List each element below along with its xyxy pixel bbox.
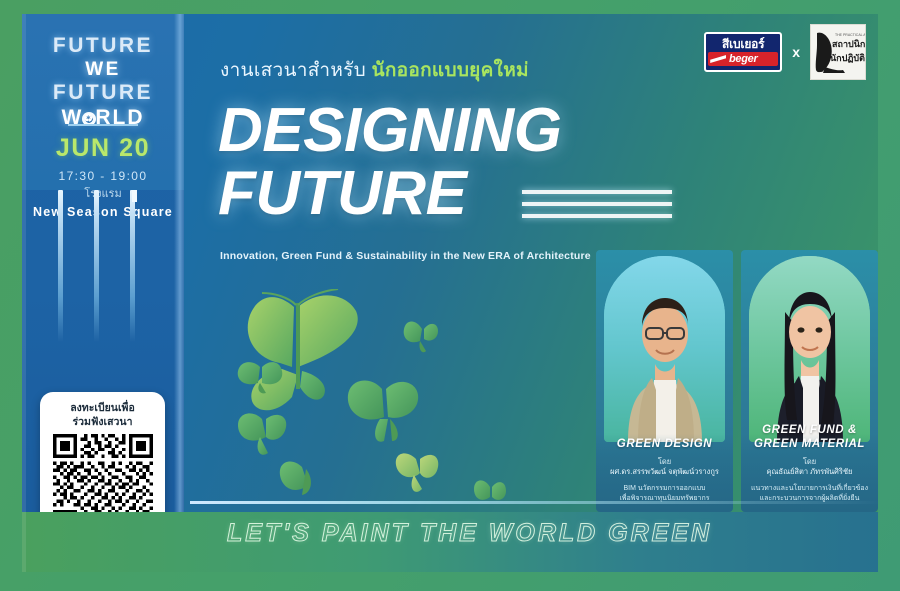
butterfly-mid-right (348, 380, 418, 441)
beger-wordmark: beger (729, 53, 757, 65)
beger-logo: สีเบเยอร์ beger (704, 32, 782, 72)
speaker-2-by: โดย (747, 457, 872, 467)
butterfly-bottom-3 (474, 480, 506, 499)
speaker-2-caption: GREEN FUND & GREEN MATERIAL โดย คุณธัณย์… (741, 423, 878, 512)
decor-bar-1 (58, 190, 63, 342)
speaker-2-desc-1: แนวทางและนโยบายการเงินที่เกี่ยวข้อง (747, 484, 872, 494)
butterfly-decoration (222, 289, 542, 524)
page-title: DESIGNING FUTURE (218, 102, 561, 224)
butterflies-art (222, 289, 542, 524)
left-trim (22, 14, 26, 572)
left-info-panel: FUTURE WE FUTURE WRLD JUN 20 17:30 - 19:… (22, 14, 184, 572)
speaker-2-topic-line-1: GREEN FUND & (747, 423, 872, 437)
svg-text:สถาปนิก: สถาปนิก (832, 39, 865, 49)
brand-line-3: FUTURE (22, 81, 184, 106)
title-line-2: FUTURE (218, 165, 561, 224)
divider (68, 124, 138, 126)
partner-logos: สีเบเยอร์ beger x สถาปนิก นักปฏิบัติ (704, 24, 866, 80)
kicker-plain: งานเสวนาสำหรับ (220, 60, 372, 81)
brand-line-1: FUTURE (22, 34, 184, 59)
kicker-text: งานเสวนาสำหรับ นักออกแบบยุคใหม่ (220, 55, 529, 85)
speaker-1-by: โดย (602, 457, 727, 467)
speaker-card-green-design[interactable]: GREEN DESIGN โดย ผศ.ดร.สรรพวัฒน์ จตุพัฒน… (596, 250, 733, 512)
bottom-separator-line (190, 501, 878, 504)
brand-logo: FUTURE WE FUTURE WRLD (22, 34, 184, 131)
poster: FUTURE WE FUTURE WRLD JUN 20 17:30 - 19:… (0, 0, 900, 591)
title-line-1: DESIGNING (218, 96, 561, 165)
speaker-1-topic: GREEN DESIGN (602, 437, 727, 451)
speaker-2-topic-line-2: GREEN MATERIAL (747, 437, 872, 451)
event-date: JUN 20 (22, 134, 184, 163)
qr-label-line-1: ลงทะเบียนเพื่อ (70, 401, 135, 415)
beger-logo-latin: beger (708, 52, 778, 66)
speaker-1-portrait (604, 256, 725, 442)
partner-logo-art: สถาปนิก นักปฏิบัติ THE PRACTICAL ARCHITE… (811, 25, 865, 79)
swoosh-icon (710, 55, 726, 63)
speaker-card-green-fund[interactable]: GREEN FUND & GREEN MATERIAL โดย คุณธัณย์… (741, 250, 878, 512)
partner-logo: สถาปนิก นักปฏิบัติ THE PRACTICAL ARCHITE… (810, 24, 866, 80)
qr-label-line-2: ร่วมฟังเสวนา (73, 415, 133, 429)
footer-slogan: LET'S PAINT THE WORLD GREEN (227, 519, 712, 548)
kicker-accent: นักออกแบบยุคใหม่ (372, 60, 529, 81)
speaker-1-photo (604, 256, 725, 442)
svg-text:นักปฏิบัติ: นักปฏิบัติ (830, 53, 865, 63)
speaker-1-name: ผศ.ดร.สรรพวัฒน์ จตุพัฒน์วรางกูร (602, 467, 727, 477)
beger-logo-thai: สีเบเยอร์ (722, 38, 764, 50)
logo-separator: x (792, 44, 800, 60)
speaker-2-photo (749, 256, 870, 442)
speaker-2-portrait (749, 256, 870, 442)
brand-line-2: WE (22, 59, 184, 81)
butterfly-bottom-1 (280, 461, 311, 495)
butterfly-lower-left (238, 413, 286, 454)
speaker-1-desc-1: BIM นวัตกรรมการออกแบบ (602, 484, 727, 494)
subtitle: Innovation, Green Fund & Sustainability … (220, 250, 591, 262)
event-time: 17:30 - 19:00 (22, 169, 184, 183)
speaker-cards: GREEN DESIGN โดย ผศ.ดร.สรรพวัฒน์ จตุพัฒน… (596, 250, 878, 512)
decor-bar-2 (94, 190, 99, 342)
brand-line-4: WRLD (22, 106, 184, 131)
speed-lines-decor (522, 190, 672, 230)
svg-text:THE PRACTICAL ARCHITECT: THE PRACTICAL ARCHITECT (835, 33, 865, 37)
speaker-2-name: คุณธัณย์สิตา ภัทรพันศิริชัย (747, 467, 872, 477)
butterfly-right-small (404, 322, 438, 353)
butterfly-bottom-2 (396, 453, 438, 492)
decorative-bars (52, 190, 162, 350)
decor-bar-3 (130, 190, 135, 342)
poster-board: FUTURE WE FUTURE WRLD JUN 20 17:30 - 19:… (22, 14, 878, 572)
